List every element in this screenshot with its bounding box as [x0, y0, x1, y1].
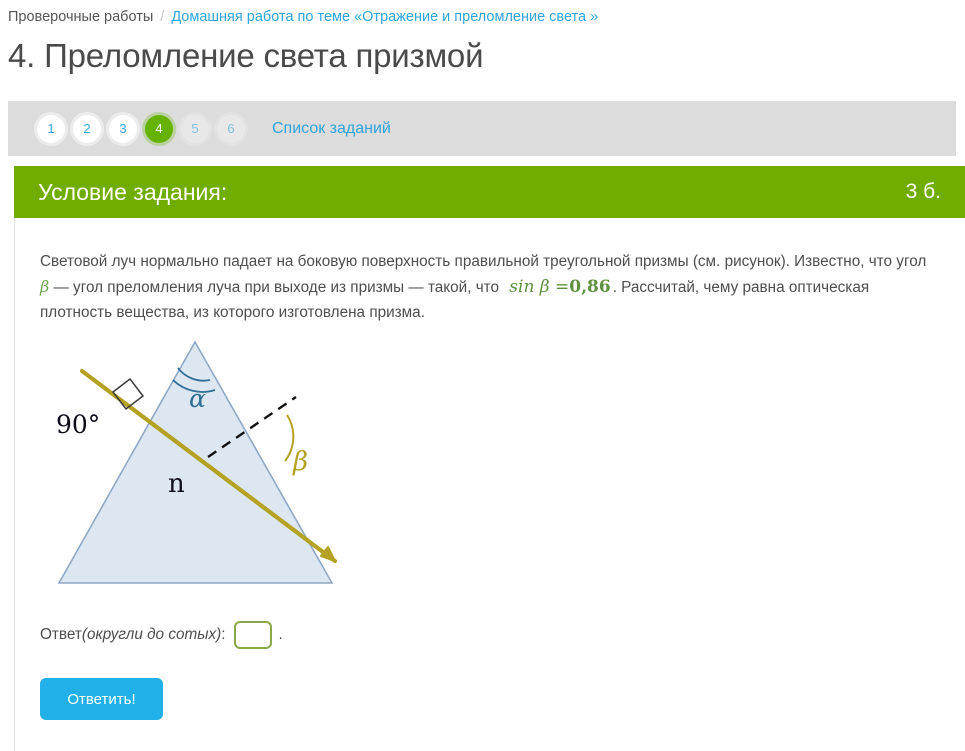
label-refractive-index: n — [168, 469, 185, 499]
step-button-4-active[interactable]: 4 — [145, 115, 173, 143]
answer-label-hint: (округли до сотых) — [82, 626, 221, 644]
prism-figure: 90° n α β — [40, 335, 370, 605]
answer-label-colon: : — [221, 626, 225, 644]
ray-arrowhead — [321, 547, 335, 561]
label-beta: β — [292, 447, 308, 477]
answer-input[interactable] — [234, 621, 272, 649]
answer-row: Ответ (округли до сотых): . — [40, 621, 283, 649]
breadcrumb-root: Проверочные работы — [8, 9, 153, 25]
label-alpha: α — [189, 384, 206, 413]
condition-bar: Условие задания: 3 б. — [14, 166, 965, 218]
breadcrumb: Проверочные работы/Домашняя работа по те… — [0, 0, 965, 27]
breadcrumb-separator: / — [160, 9, 164, 25]
step-button-5[interactable]: 5 — [181, 115, 209, 143]
step-button-2[interactable]: 2 — [73, 115, 101, 143]
step-button-3[interactable]: 3 — [109, 115, 137, 143]
formula-sin-label: sin β = — [509, 277, 569, 297]
task-nav-strip: 1 2 3 4 5 6 Список заданий — [8, 101, 956, 156]
submit-answer-button[interactable]: Ответить! — [40, 678, 163, 720]
page-title: 4. Преломление света призмой — [8, 35, 965, 77]
beta-symbol-inline: β — [40, 277, 49, 296]
formula-sin-beta: sin β =0,86 — [509, 277, 610, 297]
task-content-panel: Световой луч нормально падает на боковую… — [14, 218, 965, 751]
answer-label-prefix: Ответ — [40, 626, 82, 644]
label-right-angle: 90° — [56, 410, 100, 439]
answer-trailing-dot: . — [278, 626, 282, 644]
formula-sin-value: 0,86 — [569, 277, 610, 297]
prism-triangle — [59, 342, 332, 583]
step-button-1[interactable]: 1 — [37, 115, 65, 143]
condition-points-badge: 3 б. — [906, 180, 941, 204]
task-text-part2: — угол преломления луча при выходе из пр… — [49, 279, 503, 296]
task-list-link[interactable]: Список заданий — [272, 120, 391, 138]
breadcrumb-link-homework[interactable]: Домашняя работа по теме «Отражение и пре… — [171, 9, 598, 25]
task-text-part1: Световой луч нормально падает на боковую… — [40, 253, 926, 270]
condition-title: Условие задания: — [38, 179, 227, 206]
step-button-6[interactable]: 6 — [217, 115, 245, 143]
task-statement: Световой луч нормально падает на боковую… — [40, 249, 930, 325]
